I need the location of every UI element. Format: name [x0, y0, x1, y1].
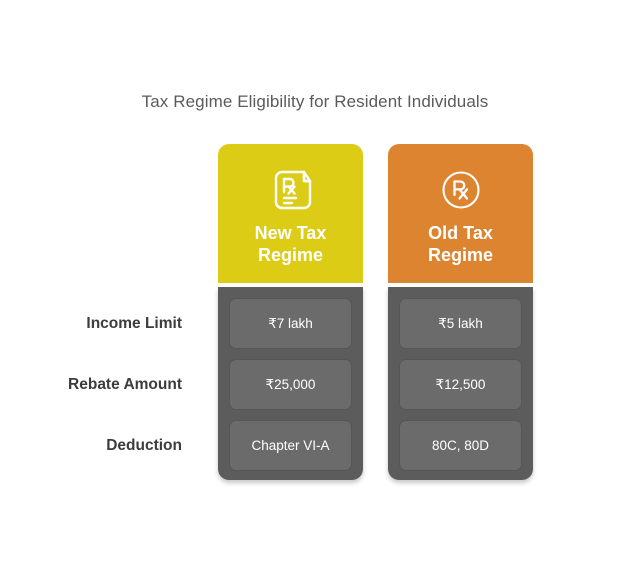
column-title-old-tax-regime: Old Tax Regime	[428, 223, 493, 267]
row-label-income-limit: Income Limit	[0, 315, 182, 333]
column-title-new-tax-regime: New Tax Regime	[255, 223, 327, 267]
column-old-tax-regime[interactable]: Old Tax Regime ₹5 lakh ₹12,500 80C, 80D	[388, 144, 533, 480]
column-body-old-tax-regime: ₹5 lakh ₹12,500 80C, 80D	[388, 287, 533, 480]
row-label-deduction: Deduction	[0, 437, 182, 455]
row-label-column: Income Limit Rebate Amount Deduction	[0, 287, 196, 480]
page-title: Tax Regime Eligibility for Resident Indi…	[0, 92, 630, 112]
tax-regime-infographic: Tax Regime Eligibility for Resident Indi…	[0, 0, 630, 570]
prescription-circle-icon	[433, 161, 489, 219]
cell-old-deduction[interactable]: 80C, 80D	[399, 420, 522, 471]
cell-new-rebate-amount[interactable]: ₹25,000	[229, 359, 352, 410]
column-new-tax-regime[interactable]: New Tax Regime ₹7 lakh ₹25,000 Chapter V…	[218, 144, 363, 480]
cell-old-income-limit[interactable]: ₹5 lakh	[399, 298, 522, 349]
prescription-scroll-icon	[263, 161, 319, 219]
row-label-rebate-amount: Rebate Amount	[0, 376, 182, 394]
column-header-new-tax-regime: New Tax Regime	[218, 144, 363, 283]
column-header-old-tax-regime: Old Tax Regime	[388, 144, 533, 283]
cell-old-rebate-amount[interactable]: ₹12,500	[399, 359, 522, 410]
cell-new-deduction[interactable]: Chapter VI-A	[229, 420, 352, 471]
cell-new-income-limit[interactable]: ₹7 lakh	[229, 298, 352, 349]
column-body-new-tax-regime: ₹7 lakh ₹25,000 Chapter VI-A	[218, 287, 363, 480]
